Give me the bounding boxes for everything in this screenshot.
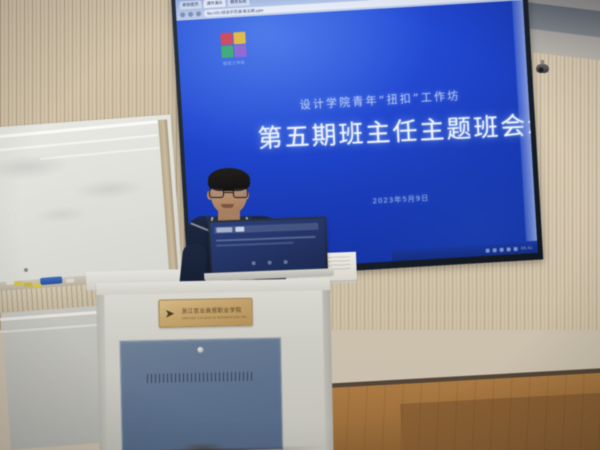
- laptop-play-button[interactable]: [235, 227, 244, 232]
- presenter-mouth: [221, 204, 234, 208]
- plaque-chinese-name: 浙江农业商贸职业学院: [182, 305, 247, 314]
- workshop-logo: 扭扣工作坊: [217, 32, 249, 68]
- laptop-icon[interactable]: [268, 261, 272, 265]
- logo-tile: [234, 45, 247, 58]
- laptop-icon[interactable]: [284, 260, 288, 264]
- os-taskbar[interactable]: 09:41: [392, 242, 538, 262]
- glasses-bridge: [224, 192, 233, 193]
- logo-caption: 扭扣工作坊: [219, 59, 249, 67]
- taskbar-icon[interactable]: [514, 246, 518, 250]
- panel-vent-slots: [147, 372, 255, 383]
- laptop-window-titlebar[interactable]: [214, 223, 318, 234]
- logo-tile: [221, 45, 234, 58]
- forward-icon[interactable]: [188, 12, 193, 17]
- logo-mark-icon: [220, 32, 246, 58]
- whiteboard-smudges: [0, 136, 177, 239]
- laptop-content-line: [216, 236, 316, 241]
- taskbar-icon[interactable]: [500, 247, 504, 251]
- glasses-lens: [233, 188, 248, 198]
- institution-plaque: ➤ 浙江农业商贸职业学院 ZHEJIANG COLLEGE OF BUSINES…: [158, 298, 253, 328]
- glasses-icon: [209, 188, 249, 199]
- laptop-icon[interactable]: [252, 261, 256, 265]
- browser-chrome[interactable]: 新标签页 课件演示 教务系统 file:///D:/班会示范课/第五期.pptx: [175, 0, 523, 21]
- logo-tile: [220, 32, 233, 45]
- taskbar-icon[interactable]: [486, 248, 490, 252]
- security-camera-icon: [534, 60, 552, 76]
- plaque-text-group: 浙江农业商贸职业学院 ZHEJIANG COLLEGE OF BUSINESS …: [182, 305, 247, 319]
- slide-subtitle: 设计学院青年“扭扣”工作坊: [299, 87, 461, 113]
- bird-logo-icon: ➤: [165, 307, 178, 320]
- tray-dot: [24, 268, 28, 272]
- laptop-window-title: [216, 227, 232, 233]
- taskbar-icon[interactable]: [493, 248, 497, 252]
- taskbar-clock: 09:41: [521, 245, 533, 251]
- whiteboard-marker[interactable]: [33, 283, 41, 288]
- lecture-hall-photo: 新标签页 课件演示 教务系统 file:///D:/班会示范课/第五期.pptx: [0, 0, 600, 450]
- whiteboard-marker[interactable]: [14, 281, 22, 286]
- glasses-lens: [209, 188, 224, 198]
- panel-lock-icon[interactable]: [197, 347, 203, 353]
- presenter-laptop[interactable]: [208, 216, 328, 274]
- slide-date: 2023年5月9日: [372, 193, 429, 206]
- slide-title: 第五期班主任主题班会示范课: [257, 102, 538, 155]
- whiteboard-marker[interactable]: [66, 278, 74, 283]
- reload-icon[interactable]: [196, 11, 201, 16]
- taskbar-icon[interactable]: [507, 247, 511, 251]
- camera-lens: [538, 67, 544, 73]
- laptop-bezel: [208, 216, 328, 274]
- laptop-screen[interactable]: [210, 219, 326, 273]
- logo-tile: [233, 32, 246, 45]
- whiteboard-marker[interactable]: [24, 282, 32, 287]
- lectern-podium[interactable]: ➤ 浙江农业商贸职业学院 ZHEJIANG COLLEGE OF BUSINES…: [96, 278, 334, 450]
- laptop-content-line: [216, 242, 294, 246]
- plaque-english-name: ZHEJIANG COLLEGE OF BUSINESS AND TRADE: [182, 315, 247, 319]
- back-icon[interactable]: [180, 12, 185, 17]
- whiteboard-marker[interactable]: [6, 280, 14, 285]
- podium-front-panel[interactable]: [119, 337, 283, 450]
